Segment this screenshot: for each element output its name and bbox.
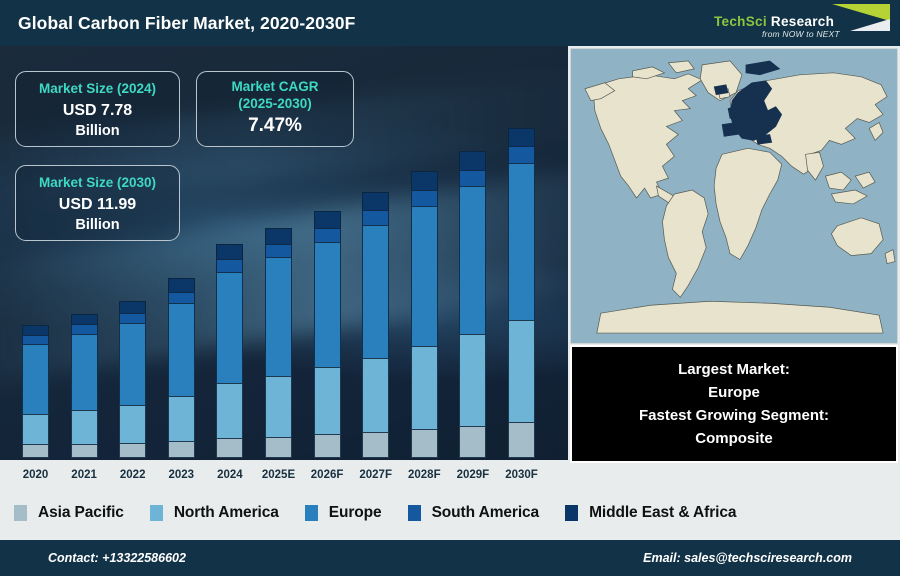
bar-segment-middle-east-africa	[459, 151, 486, 170]
bar-segment-south-america	[22, 335, 49, 344]
stacked-bar-chart	[0, 46, 568, 486]
bar-segment-europe	[216, 272, 243, 383]
italy-highlight	[756, 134, 772, 144]
bar-segment-south-america	[411, 190, 438, 205]
footer-contact: Contact: +13322586602	[48, 551, 186, 565]
bar-segment-north-america	[265, 376, 292, 437]
logo-arrow-shadow-icon	[850, 19, 890, 31]
bar-segment-middle-east-africa	[508, 128, 535, 146]
legend-item-north-america[interactable]: North America	[150, 504, 279, 522]
bar-segment-south-america	[508, 146, 535, 163]
bar-segment-south-america	[362, 210, 389, 224]
legend-item-europe[interactable]: Europe	[305, 504, 382, 522]
bar-segment-south-america	[459, 170, 486, 186]
bar-segment-europe	[411, 206, 438, 347]
bar-segment-south-america	[168, 292, 195, 303]
legend-swatch-icon	[14, 505, 27, 521]
bar-segment-europe	[265, 257, 292, 376]
legend-swatch-icon	[408, 505, 421, 521]
bar-column	[265, 228, 292, 458]
bar-column	[314, 211, 341, 458]
legend-label: South America	[432, 504, 540, 522]
bar-segment-europe	[314, 242, 341, 368]
bar-segment-north-america	[71, 410, 98, 444]
logo-name-research: Research	[767, 14, 834, 29]
largest-market-value: Europe	[708, 381, 760, 404]
legend-item-south-america[interactable]: South America	[408, 504, 540, 522]
header-bar: Global Carbon Fiber Market, 2020-2030F T…	[0, 0, 900, 46]
legend-swatch-icon	[305, 505, 318, 521]
bar-segment-middle-east-africa	[265, 228, 292, 244]
bar-segment-europe	[168, 303, 195, 397]
bar-segment-middle-east-africa	[411, 171, 438, 190]
bar-column	[168, 278, 195, 458]
bar-segment-middle-east-africa	[314, 211, 341, 228]
legend-label: Europe	[329, 504, 382, 522]
page-title: Global Carbon Fiber Market, 2020-2030F	[18, 13, 355, 34]
bar-segment-north-america	[22, 414, 49, 444]
bar-segment-asia-pacific	[508, 422, 535, 458]
bar-segment-asia-pacific	[314, 434, 341, 458]
infographic-page: Global Carbon Fiber Market, 2020-2030F T…	[0, 0, 900, 576]
bar-column	[411, 171, 438, 458]
logo-wordmark: TechSci Research	[714, 14, 834, 29]
bar-segment-europe	[362, 225, 389, 358]
bar-segment-europe	[71, 334, 98, 410]
bar-segment-asia-pacific	[459, 426, 486, 458]
legend-item-middle-east-africa[interactable]: Middle East & Africa	[565, 504, 736, 522]
largest-market-label: Largest Market:	[678, 358, 790, 381]
bar-segment-asia-pacific	[22, 444, 49, 458]
bar-segment-middle-east-africa	[22, 325, 49, 334]
bar-column	[119, 301, 146, 458]
world-map-largest-market	[570, 48, 898, 344]
bar-segment-middle-east-africa	[362, 192, 389, 210]
iceland-highlight	[714, 85, 728, 95]
bar-segment-north-america	[216, 383, 243, 438]
bar-segment-asia-pacific	[119, 443, 146, 458]
market-highlights-box: Largest Market: Europe Fastest Growing S…	[570, 345, 898, 463]
bar-segment-north-america	[508, 320, 535, 422]
bar-segment-middle-east-africa	[216, 244, 243, 259]
bar-segment-asia-pacific	[71, 444, 98, 458]
world-map-svg	[571, 49, 897, 343]
bar-column	[508, 128, 535, 458]
bar-segment-europe	[22, 344, 49, 414]
bar-segment-north-america	[459, 334, 486, 426]
bar-segment-north-america	[362, 358, 389, 432]
bar-column	[216, 244, 243, 458]
iberia-highlight	[722, 123, 738, 137]
bar-segment-south-america	[265, 244, 292, 257]
bar-segment-europe	[119, 323, 146, 405]
bar-column	[362, 192, 389, 458]
chart-panel: Market Size (2024) USD 7.78 Billion Mark…	[0, 46, 568, 486]
bar-segment-north-america	[119, 405, 146, 443]
fastest-segment-label: Fastest Growing Segment:	[639, 404, 829, 427]
logo-name-tech: TechSci	[714, 14, 767, 29]
legend-swatch-icon	[150, 505, 163, 521]
fastest-segment-value: Composite	[695, 427, 773, 450]
footer-bar: Contact: +13322586602 Email: sales@techs…	[0, 540, 900, 576]
legend-label: Middle East & Africa	[589, 504, 736, 522]
legend-label: North America	[174, 504, 279, 522]
legend-swatch-icon	[565, 505, 578, 521]
footer-email: Email: sales@techsciresearch.com	[643, 551, 852, 565]
bar-segment-middle-east-africa	[168, 278, 195, 292]
bar-segment-south-america	[119, 313, 146, 323]
bar-segment-middle-east-africa	[119, 301, 146, 313]
bar-column	[22, 325, 49, 458]
x-axis-tick-2030F: 2030F	[493, 469, 551, 481]
techsci-research-logo: TechSci Research from NOW to NEXT	[710, 2, 892, 44]
bar-segment-north-america	[411, 346, 438, 429]
bar-segment-asia-pacific	[216, 438, 243, 458]
bar-segment-asia-pacific	[168, 441, 195, 458]
bar-segment-asia-pacific	[362, 432, 389, 458]
bar-segment-asia-pacific	[411, 429, 438, 458]
bar-segment-north-america	[314, 367, 341, 434]
chart-legend: Asia PacificNorth AmericaEuropeSouth Ame…	[0, 487, 900, 539]
bar-column	[71, 314, 98, 458]
logo-tagline: from NOW to NEXT	[762, 29, 840, 39]
bar-segment-south-america	[71, 324, 98, 333]
bar-segment-europe	[459, 186, 486, 335]
bar-segment-south-america	[314, 228, 341, 242]
bar-segment-middle-east-africa	[71, 314, 98, 324]
bar-segment-south-america	[216, 259, 243, 272]
bar-segment-europe	[508, 163, 535, 320]
bar-segment-asia-pacific	[265, 437, 292, 458]
legend-item-asia-pacific[interactable]: Asia Pacific	[14, 504, 124, 522]
legend-label: Asia Pacific	[38, 504, 124, 522]
bar-segment-north-america	[168, 396, 195, 441]
bar-column	[459, 151, 486, 458]
